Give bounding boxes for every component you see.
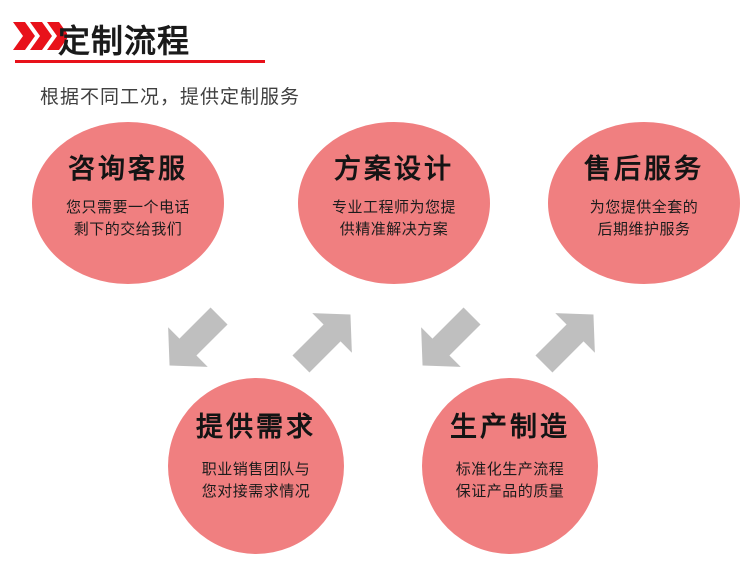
flow-node-title: 咨询客服	[68, 156, 188, 183]
flow-node-desc-line1: 为您提供全套的	[590, 197, 699, 219]
title-underline-rule	[15, 60, 265, 63]
flow-node-desc-line2: 供精准解决方案	[332, 219, 456, 241]
flow-node-desc-line2: 您对接需求情况	[202, 481, 311, 503]
flow-node-design[interactable]: 方案设计 专业工程师为您提 供精准解决方案	[298, 122, 490, 284]
flow-node-title: 售后服务	[584, 156, 704, 183]
arrow-up-right-icon	[528, 300, 608, 380]
flow-node-title: 生产制造	[450, 414, 570, 441]
flow-node-desc-line1: 职业销售团队与	[202, 459, 311, 481]
flow-node-desc: 为您提供全套的 后期维护服务	[590, 197, 699, 241]
flow-node-desc: 标准化生产流程 保证产品的质量	[456, 459, 565, 503]
flow-node-desc-line1: 标准化生产流程	[456, 459, 565, 481]
section-header: 定制流程	[0, 0, 750, 70]
flow-node-consult[interactable]: 咨询客服 您只需要一个电话 剩下的交给我们	[32, 122, 224, 284]
flow-node-desc-line1: 专业工程师为您提	[332, 197, 456, 219]
customization-process-infographic: 定制流程 根据不同工况，提供定制服务 咨询客服 您只需要一个电话 剩下的交给我们…	[0, 0, 750, 576]
flow-node-desc-line2: 剩下的交给我们	[66, 219, 190, 241]
arrow-down-right-icon	[155, 300, 235, 380]
flow-node-desc: 职业销售团队与 您对接需求情况	[202, 459, 311, 503]
flow-node-title: 提供需求	[196, 414, 316, 441]
flow-node-desc: 您只需要一个电话 剩下的交给我们	[66, 197, 190, 241]
arrow-up-right-icon	[285, 300, 365, 380]
flow-node-desc: 专业工程师为您提 供精准解决方案	[332, 197, 456, 241]
flow-node-title: 方案设计	[334, 156, 454, 183]
flow-node-desc-line1: 您只需要一个电话	[66, 197, 190, 219]
flow-node-manufacture[interactable]: 生产制造 标准化生产流程 保证产品的质量	[422, 378, 598, 554]
page-subtitle: 根据不同工况，提供定制服务	[40, 82, 300, 109]
flow-node-desc-line2: 保证产品的质量	[456, 481, 565, 503]
page-title: 定制流程	[58, 16, 190, 62]
flow-node-requirement[interactable]: 提供需求 职业销售团队与 您对接需求情况	[168, 378, 344, 554]
arrow-down-right-icon	[408, 300, 488, 380]
flow-node-aftersales[interactable]: 售后服务 为您提供全套的 后期维护服务	[548, 122, 740, 284]
flow-node-desc-line2: 后期维护服务	[590, 219, 699, 241]
